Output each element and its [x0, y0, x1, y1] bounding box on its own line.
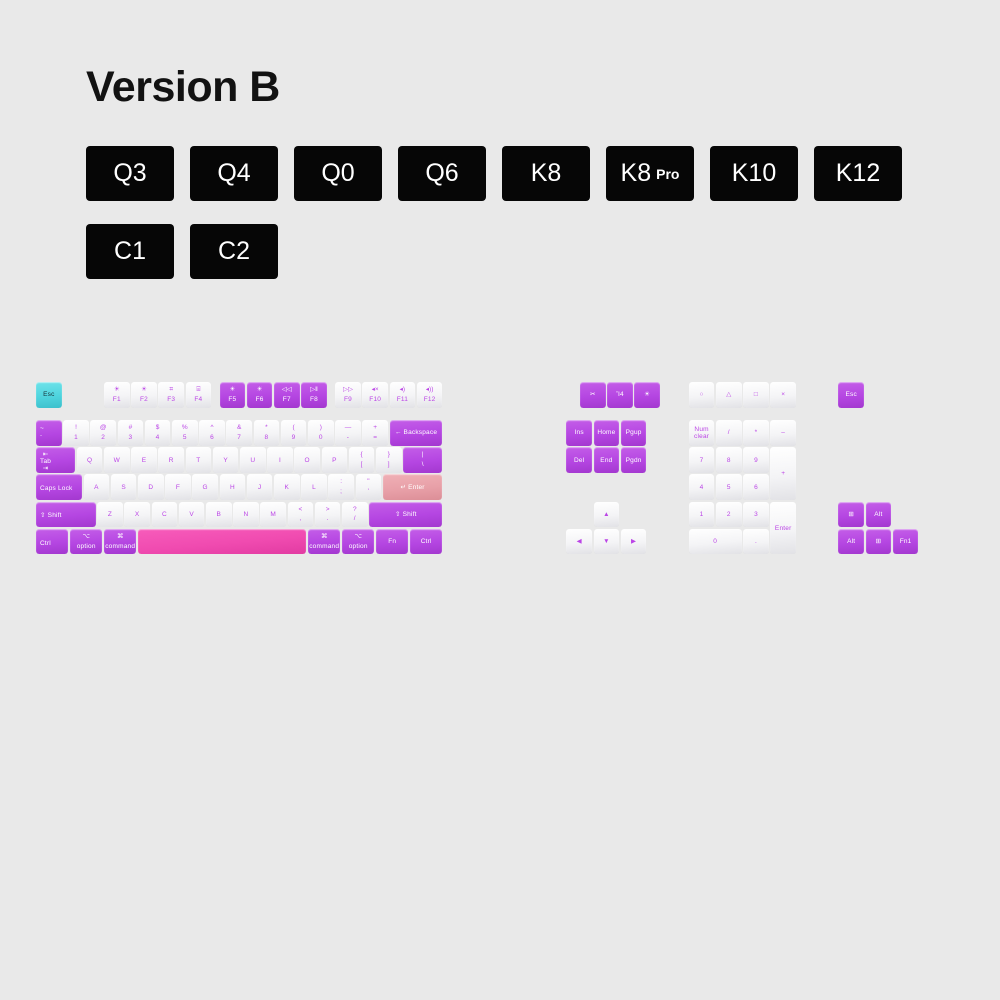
keycap-legend-group: A: [94, 474, 99, 500]
keycap-numsub[interactable]: –: [770, 420, 796, 446]
keycap-legend: /: [354, 515, 356, 522]
keycap-legend: Esc: [845, 391, 856, 398]
keycap-legend: Ἲ4: [616, 391, 624, 398]
keycap-legend: option: [77, 543, 96, 550]
keycap-surface: Q: [77, 447, 103, 473]
keycap-surface: Pgup: [621, 420, 647, 446]
keycap-i[interactable]: I: [267, 447, 293, 473]
keycap-4[interactable]: $4: [145, 420, 171, 446]
keycap-legend-group: $4: [156, 420, 160, 446]
keycap-surface: %5: [172, 420, 198, 446]
keycap-numclear[interactable]: Num clear: [689, 420, 715, 446]
keycap-legend-top: $: [156, 425, 160, 432]
keycap-home[interactable]: Home: [594, 420, 620, 446]
keycap-surface: !1: [63, 420, 89, 446]
keycap-surface: D: [138, 474, 164, 500]
keycap-legend-top: }: [388, 452, 390, 459]
keycap-pgdn[interactable]: Pgdn: [621, 447, 647, 473]
keycap-lcommand[interactable]: ⌘command: [104, 529, 136, 555]
keycap-legend-group: ⌘command: [309, 529, 339, 555]
keycap-legend: 1: [700, 511, 704, 518]
keycap-f2[interactable]: ☀F2: [131, 382, 157, 408]
keycap-legend-group: ☀F2: [140, 382, 148, 408]
keycap-legend-group: ✂: [590, 382, 596, 408]
keycap-surface: ↵ Enter: [383, 474, 443, 500]
keycap-f12[interactable]: ◂))F12: [417, 382, 443, 408]
keycap-legend: 0: [319, 434, 323, 441]
keycap-legend-top: ⌘: [321, 534, 328, 541]
keycap-surface: 4: [689, 474, 715, 500]
keycap-legend: Enter: [775, 525, 792, 532]
keycap-legend: [: [361, 461, 363, 468]
keycap-surface: ☀F2: [131, 382, 157, 408]
keycap-f5[interactable]: ☀F5: [220, 382, 246, 408]
keycap-legend-group: ⊞: [876, 529, 882, 555]
keycap-x[interactable]: X: [124, 502, 150, 528]
keycap-surface: Enter: [770, 502, 796, 555]
keycap-backslash[interactable]: |\: [403, 447, 442, 473]
keycap-surface: ⊞: [866, 529, 892, 555]
keycap-legend-top: %: [182, 425, 188, 432]
keycap-6[interactable]: ^6: [199, 420, 225, 446]
keycap-f9[interactable]: ▷▷F9: [335, 382, 361, 408]
keycap-legend-top: ◂): [400, 387, 405, 394]
keycap-legend: Ctrl: [421, 538, 432, 545]
keycap-arrow-right[interactable]: ▶: [621, 529, 647, 555]
keycap-legend-top: ▷▷: [343, 387, 353, 394]
keycap-z[interactable]: Z: [97, 502, 123, 528]
keycap-legend-group: :;: [340, 474, 342, 500]
keycap-rshift[interactable]: ⇧ Shift: [369, 502, 442, 528]
keycap-rcommand[interactable]: ⌘command: [308, 529, 340, 555]
keycap-legend-top: &: [237, 425, 241, 432]
keycap-7[interactable]: &7: [226, 420, 252, 446]
keycap-bulb[interactable]: ☀: [634, 382, 660, 408]
keycap-legend: –: [781, 429, 785, 436]
keycap-legend: Z: [108, 511, 112, 518]
keycap-0[interactable]: )0: [308, 420, 334, 446]
keycap-legend-top: {: [361, 452, 363, 459]
keycap-legend: ]: [388, 461, 390, 468]
keycap-legend-top: ☀: [114, 387, 120, 394]
keycap-nummul[interactable]: *: [743, 420, 769, 446]
keycap-f10[interactable]: ◂×F10: [362, 382, 388, 408]
keycap-legend: ;: [340, 488, 342, 495]
keycap-surface: ◂))F12: [417, 382, 443, 408]
keycap-capslock[interactable]: Caps Lock: [36, 474, 82, 500]
keycap-surface: [138, 529, 306, 555]
keycap-num7[interactable]: 7: [689, 447, 715, 473]
keycap-o[interactable]: O: [294, 447, 320, 473]
keycap-legend: -: [347, 434, 349, 441]
keycap-num1[interactable]: 1: [689, 502, 715, 528]
keycap-legend: 2: [101, 434, 105, 441]
keycap-surface: –: [770, 420, 796, 446]
keycap-ps-cross[interactable]: ×: [770, 382, 796, 408]
keycap-surface: L: [301, 474, 327, 500]
keycap-surface: >.: [315, 502, 341, 528]
keycap-surface: Ins: [566, 420, 592, 446]
keycap-legend-group: )0: [319, 420, 323, 446]
keycap-j[interactable]: J: [247, 474, 273, 500]
keycap-legend: F: [176, 484, 180, 491]
keycap-rctrl[interactable]: Ctrl: [410, 529, 442, 555]
keycap-num9[interactable]: 9: [743, 447, 769, 473]
keycap-legend: U: [250, 457, 255, 464]
keycap-legend-group: N: [244, 502, 249, 528]
keycap-h[interactable]: H: [220, 474, 246, 500]
keycap-surface: A: [84, 474, 110, 500]
keycap-legend-group: T: [196, 447, 200, 473]
keycap-legend: 1: [74, 434, 78, 441]
keycap-legend-top: |: [422, 452, 424, 459]
keycap-surface: ▷▷F9: [335, 382, 361, 408]
keycap-legend-group: <,: [298, 502, 302, 528]
keycap-num2[interactable]: 2: [716, 502, 742, 528]
keycap-legend-top: >: [326, 507, 330, 514]
keycap-legend-group: R: [169, 447, 174, 473]
keycap-surface: (9: [281, 420, 307, 446]
keycap-surface: &7: [226, 420, 252, 446]
keycap-surface: W: [104, 447, 130, 473]
keycap-surface: ⌘command: [308, 529, 340, 555]
keycap-legend: T: [196, 457, 200, 464]
keycap-legend-group: 8: [727, 447, 731, 473]
keycap-legend-group: >.: [326, 502, 330, 528]
keycap-n[interactable]: N: [233, 502, 259, 528]
keycap-numdiv[interactable]: /: [716, 420, 742, 446]
keycap-space[interactable]: [138, 529, 306, 555]
keycap-set-layout: Esc☀F1☀F2⌗F3⌸F4☀F5☀F6◁◁F7▷‖F8▷▷F9◂×F10◂)…: [0, 0, 1000, 1000]
keycap-legend: W: [114, 457, 120, 464]
keycap-legend: L: [312, 484, 316, 491]
keycap-legend-group: 5: [727, 474, 731, 500]
keycap-end[interactable]: End: [594, 447, 620, 473]
keycap-rbracket[interactable]: }]: [376, 447, 402, 473]
keycap-semicolon[interactable]: :;: [328, 474, 354, 500]
keycap-f3[interactable]: ⌗F3: [158, 382, 184, 408]
keycap-legend-group: *: [755, 420, 758, 446]
keycap-legend-group: B: [217, 502, 222, 528]
keycap-l[interactable]: L: [301, 474, 327, 500]
keycap-c[interactable]: C: [152, 502, 178, 528]
keycap-legend-group: 0: [713, 529, 717, 555]
keycap-legend: Esc: [43, 391, 54, 398]
keycap-comma[interactable]: <,: [288, 502, 314, 528]
keycap-legend-group: Pgup: [626, 420, 642, 446]
keycap-surface: C: [152, 502, 178, 528]
keycap-del[interactable]: Del: [566, 447, 592, 473]
keycap-legend-group: M: [270, 502, 276, 528]
keycap-surface: ×: [770, 382, 796, 408]
keycap-legend: 7: [700, 457, 704, 464]
keycap-8[interactable]: *8: [254, 420, 280, 446]
keycap-w[interactable]: W: [104, 447, 130, 473]
keycap-surface: ◀: [566, 529, 592, 555]
keycap-snip[interactable]: ✂: [580, 382, 606, 408]
keycap-legend-group: ▷▷F9: [343, 382, 353, 408]
keycap-legend-group: —-: [345, 420, 352, 446]
keycap-surface: 9: [743, 447, 769, 473]
keycap-legend-group: Z: [108, 502, 112, 528]
keycap-surface: /: [716, 420, 742, 446]
keycap-legend: ': [368, 488, 369, 495]
keycap-surface: ◁◁F7: [274, 382, 300, 408]
keycap-surface: 7: [689, 447, 715, 473]
keycap-legend: option: [349, 543, 368, 550]
keycap-surface: Alt: [838, 529, 864, 555]
keycap-surface: ▶: [621, 529, 647, 555]
keycap-win-left[interactable]: ⊞: [838, 502, 864, 528]
keycap-legend-group: Q: [87, 447, 92, 473]
keycap-legend: F3: [167, 396, 175, 403]
keycap-enter[interactable]: ↵ Enter: [383, 474, 443, 500]
keycap-f[interactable]: F: [165, 474, 191, 500]
keycap-lbracket[interactable]: {[: [349, 447, 375, 473]
keycap-f4[interactable]: ⌸F4: [186, 382, 212, 408]
keycap-legend-group: 2: [727, 502, 731, 528]
keycap-legend-group: Esc: [43, 382, 54, 408]
keycap-num4[interactable]: 4: [689, 474, 715, 500]
keycap-legend-group: D: [148, 474, 153, 500]
keycap-legend: ◀: [577, 538, 582, 545]
keycap-surface: ✂: [580, 382, 606, 408]
keycap-surface: ⌗F3: [158, 382, 184, 408]
keycap-surface: I: [267, 447, 293, 473]
keycap-legend-group: ▼: [603, 529, 610, 555]
keycap-surface: ← Backspace: [390, 420, 443, 446]
keycap-legend-group: Enter: [775, 502, 792, 555]
keycap-legend: ⇧ Shift: [40, 512, 62, 519]
keycap-1[interactable]: !1: [63, 420, 89, 446]
keycap-ps-circle[interactable]: ○: [689, 382, 715, 408]
keycap-ps-square[interactable]: □: [743, 382, 769, 408]
keycap-legend-top: (: [293, 425, 295, 432]
keycap-surface: ▲: [594, 502, 620, 528]
keycap-lshift[interactable]: ⇧ Shift: [36, 502, 96, 528]
keycap-legend-group: {[: [361, 447, 363, 473]
keycap-t[interactable]: T: [186, 447, 212, 473]
keycap-legend: ,: [299, 515, 301, 522]
keycap-legend-top: :: [340, 479, 342, 486]
keycap-surface: V: [179, 502, 205, 528]
keycap-f8[interactable]: ▷‖F8: [301, 382, 327, 408]
keycap-legend: Fn: [388, 538, 396, 545]
keycap-legend: 7: [237, 434, 241, 441]
keycap-3[interactable]: #3: [118, 420, 144, 446]
keycap-f6[interactable]: ☀F6: [247, 382, 273, 408]
keycap-esc2[interactable]: Esc: [838, 382, 864, 408]
keycap-legend-top: ◂×: [372, 387, 379, 394]
keycap-y[interactable]: Y: [213, 447, 239, 473]
keycap-legend: N: [244, 511, 249, 518]
keycap-legend: /: [728, 429, 730, 436]
keycap-alt-bottom[interactable]: Alt: [838, 529, 864, 555]
keycap-legend: =: [373, 434, 377, 441]
keycap-s[interactable]: S: [111, 474, 137, 500]
keycap-num3[interactable]: 3: [743, 502, 769, 528]
keycap-legend-group: (9: [292, 420, 296, 446]
keycap-surface: U: [240, 447, 266, 473]
keycap-legend-group: End: [600, 447, 612, 473]
keycap-r[interactable]: R: [158, 447, 184, 473]
keycap-numenter[interactable]: Enter: [770, 502, 796, 555]
keycap-legend: command: [105, 543, 135, 550]
keycap-p[interactable]: P: [322, 447, 348, 473]
keycap-legend: A: [94, 484, 99, 491]
keycap-surface: ⇧ Shift: [36, 502, 96, 528]
keycap-legend-group: ⌸F4: [194, 382, 202, 408]
keycap-alt-right-top[interactable]: Alt: [866, 502, 892, 528]
keycap-num0[interactable]: 0: [689, 529, 742, 555]
keycap-5[interactable]: %5: [172, 420, 198, 446]
keycap-legend-group: Fn1: [900, 529, 912, 555]
keycap-v[interactable]: V: [179, 502, 205, 528]
keycap-legend-top: ?: [353, 507, 357, 514]
keycap-fn1[interactable]: Fn1: [893, 529, 919, 555]
keycap-ins[interactable]: Ins: [566, 420, 592, 446]
keycap-tilde[interactable]: ~`: [36, 420, 62, 446]
keycap-legend: M: [270, 511, 276, 518]
keycap-minus[interactable]: —-: [335, 420, 361, 446]
keycap-legend-group: P: [332, 447, 337, 473]
keycap-legend: ×: [781, 391, 785, 398]
keycap-f11[interactable]: ◂)F11: [390, 382, 416, 408]
keycap-legend-group: ⇧ Shift: [395, 502, 417, 528]
keycap-legend-group: #3: [128, 420, 132, 446]
keycap-legend-group: ?/: [353, 502, 357, 528]
keycap-surface: ☀: [634, 382, 660, 408]
keycap-legend: F8: [310, 396, 318, 403]
keycap-legend: Alt: [874, 511, 882, 518]
keycap-legend-group: ^6: [210, 420, 214, 446]
keycap-legend: △: [726, 391, 731, 398]
keycap-legend-group: ⌘command: [105, 529, 135, 555]
keycap-surface: 6: [743, 474, 769, 500]
keycap-b[interactable]: B: [206, 502, 232, 528]
keycap-period[interactable]: >.: [315, 502, 341, 528]
keycap-surface: M: [260, 502, 286, 528]
keycap-legend: E: [142, 457, 147, 464]
keycap-g[interactable]: G: [192, 474, 218, 500]
keycap-legend: F12: [424, 396, 436, 403]
keycap-legend-group: 4: [700, 474, 704, 500]
keycap-surface: Fn1: [893, 529, 919, 555]
keycap-legend: 4: [156, 434, 160, 441]
keycap-backspace[interactable]: ← Backspace: [390, 420, 443, 446]
keycap-legend: F7: [283, 396, 291, 403]
keycap-slash[interactable]: ?/: [342, 502, 368, 528]
keycap-surface: ○: [689, 382, 715, 408]
keycap-equal[interactable]: +=: [362, 420, 388, 446]
keycap-k[interactable]: K: [274, 474, 300, 500]
keycap-surface: ⊞: [838, 502, 864, 528]
keycap-surface: 3: [743, 502, 769, 528]
keycap-surface: <,: [288, 502, 314, 528]
keycap-legend: 9: [754, 457, 758, 464]
keycap-legend: F6: [256, 396, 264, 403]
keycap-surface: F: [165, 474, 191, 500]
keycap-tab[interactable]: ⇤ Tab ⇥: [36, 447, 75, 473]
keycap-9[interactable]: (9: [281, 420, 307, 446]
keycap-legend-group: I: [279, 447, 281, 473]
keycap-d[interactable]: D: [138, 474, 164, 500]
keycap-u[interactable]: U: [240, 447, 266, 473]
keycap-legend: ✂: [590, 391, 596, 398]
keycap-surface: Alt: [866, 502, 892, 528]
keycap-lctrl[interactable]: Ctrl: [36, 529, 68, 555]
keycap-esc[interactable]: Esc: [36, 382, 62, 408]
keycap-legend: .: [327, 515, 329, 522]
keycap-legend-top: #: [129, 425, 133, 432]
keycap-legend-top: @: [100, 425, 107, 432]
keycap-num6[interactable]: 6: [743, 474, 769, 500]
keycap-a[interactable]: A: [84, 474, 110, 500]
keycap-legend-group: ⇧ Shift: [40, 505, 62, 528]
keycap-legend: P: [332, 457, 337, 464]
keycap-legend-group: ⌥option: [77, 529, 96, 555]
keycap-fn[interactable]: Fn: [376, 529, 408, 555]
keycap-num5[interactable]: 5: [716, 474, 742, 500]
keycap-roption[interactable]: ⌥option: [342, 529, 374, 555]
keycap-surface: X: [124, 502, 150, 528]
keycap-mic[interactable]: Ἲ4: [607, 382, 633, 408]
keycap-surface: ☀F5: [220, 382, 246, 408]
keycap-ps-triangle[interactable]: △: [716, 382, 742, 408]
keycap-legend-group: Y: [223, 447, 228, 473]
keycap-legend: F1: [113, 396, 121, 403]
keycap-f7[interactable]: ◁◁F7: [274, 382, 300, 408]
keycap-legend: Home: [597, 429, 615, 436]
keycap-legend-group: Esc: [845, 382, 856, 408]
keycap-numdot[interactable]: .: [743, 529, 769, 555]
keycap-legend-top: !: [75, 425, 77, 432]
keycap-legend: G: [203, 484, 208, 491]
keycap-win-bottom[interactable]: ⊞: [866, 529, 892, 555]
keycap-legend-group: .: [755, 529, 757, 555]
keycap-surface: N: [233, 502, 259, 528]
keycap-legend-group: ☀F1: [113, 382, 121, 408]
keycap-legend: Q: [87, 457, 92, 464]
keycap-num8[interactable]: 8: [716, 447, 742, 473]
keycap-loption[interactable]: ⌥option: [70, 529, 102, 555]
keycap-surface: Home: [594, 420, 620, 446]
keycap-m[interactable]: M: [260, 502, 286, 528]
keycap-pgup[interactable]: Pgup: [621, 420, 647, 446]
keycap-legend: ☀: [644, 391, 650, 398]
keycap-surface: |\: [403, 447, 442, 473]
keycap-legend-group: J: [258, 474, 261, 500]
keycap-legend-group: }]: [388, 447, 390, 473]
keycap-legend-group: ⊞: [848, 502, 854, 528]
keycap-surface: Ἲ4: [607, 382, 633, 408]
keycap-legend-group: O: [305, 447, 310, 473]
keycap-f1[interactable]: ☀F1: [104, 382, 130, 408]
keycap-numadd[interactable]: +: [770, 447, 796, 500]
keycap-arrow-down[interactable]: ▼: [594, 529, 620, 555]
keycap-quote[interactable]: "': [356, 474, 382, 500]
keycap-e[interactable]: E: [131, 447, 157, 473]
keycap-2[interactable]: @2: [90, 420, 116, 446]
keycap-surface: 0: [689, 529, 742, 555]
keycap-q[interactable]: Q: [77, 447, 103, 473]
keycap-legend-top: ◂)): [426, 387, 434, 394]
keycap-legend: ↵ Enter: [400, 484, 424, 491]
keycap-arrow-up[interactable]: ▲: [594, 502, 620, 528]
keycap-legend: H: [230, 484, 235, 491]
keycap-arrow-left[interactable]: ◀: [566, 529, 592, 555]
keycap-legend: V: [189, 511, 194, 518]
